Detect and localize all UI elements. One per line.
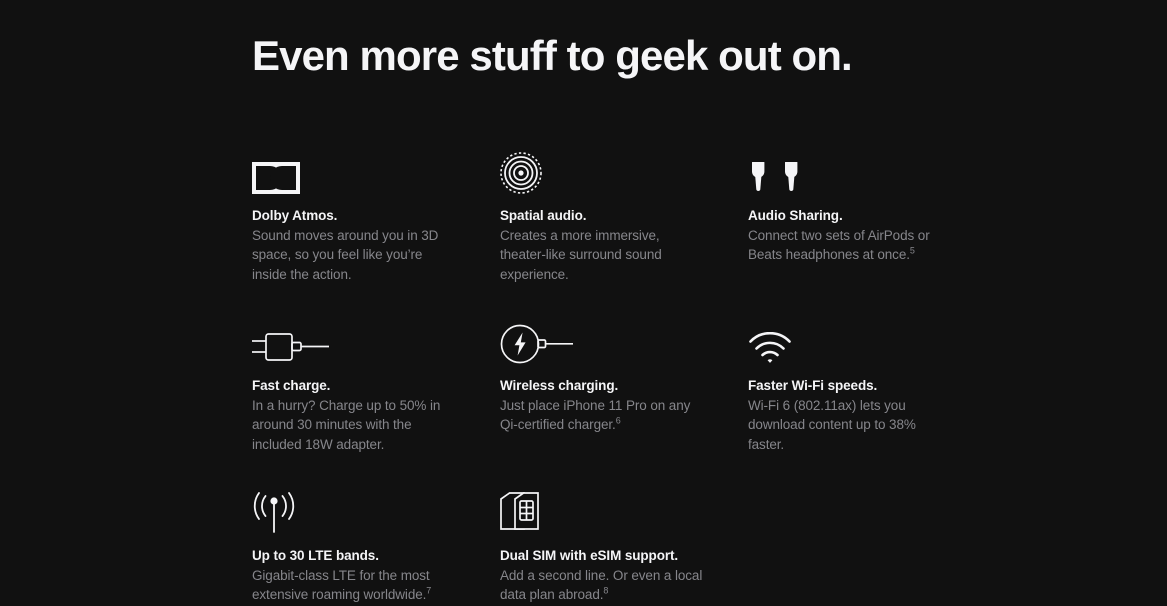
footnote-marker: 8	[603, 586, 608, 596]
feature-title: Wireless charging.	[500, 377, 748, 395]
feature-description-text: Gigabit-class LTE for the most extensive…	[252, 568, 430, 602]
airpods-pair-icon	[748, 150, 996, 194]
feature-description-text: Connect two sets of AirPods or Beats hea…	[748, 228, 930, 262]
feature-card-lte-bands: Up to 30 LTE bands. Gigabit-class LTE fo…	[252, 490, 500, 606]
feature-title: Dolby Atmos.	[252, 207, 500, 225]
feature-card-audio-sharing: Audio Sharing. Connect two sets of AirPo…	[748, 150, 996, 320]
feature-description: In a hurry? Charge up to 50% in around 3…	[252, 396, 457, 453]
feature-grid: Dolby Atmos. Sound moves around you in 3…	[252, 150, 952, 606]
feature-description: Creates a more immersive, theater-like s…	[500, 226, 705, 283]
page-title: Even more stuff to geek out on.	[252, 33, 852, 79]
feature-description: Add a second line. Or even a local data …	[500, 566, 705, 604]
feature-description-text: In a hurry? Charge up to 50% in around 3…	[252, 398, 440, 451]
spatial-audio-rings-icon	[500, 150, 748, 194]
feature-description-text: Add a second line. Or even a local data …	[500, 568, 702, 602]
feature-description: Connect two sets of AirPods or Beats hea…	[748, 226, 953, 264]
feature-highlights-page: Even more stuff to geek out on. Dolby At…	[0, 0, 1167, 606]
wireless-charging-bolt-icon	[500, 320, 748, 364]
feature-description: Wi-Fi 6 (802.11ax) lets you download con…	[748, 396, 953, 453]
footnote-marker: 6	[616, 416, 621, 426]
feature-title: Audio Sharing.	[748, 207, 996, 225]
feature-card-fast-charge: Fast charge. In a hurry? Charge up to 50…	[252, 320, 500, 490]
power-adapter-icon	[252, 320, 500, 364]
footnote-marker: 5	[910, 246, 915, 256]
feature-card-faster-wifi: Faster Wi-Fi speeds. Wi-Fi 6 (802.11ax) …	[748, 320, 996, 490]
feature-card-wireless-charging: Wireless charging. Just place iPhone 11 …	[500, 320, 748, 490]
feature-title: Spatial audio.	[500, 207, 748, 225]
feature-title: Dual SIM with eSIM support.	[500, 547, 748, 565]
feature-card-dolby-atmos: Dolby Atmos. Sound moves around you in 3…	[252, 150, 500, 320]
footnote-marker: 7	[426, 586, 431, 596]
lte-antenna-icon	[252, 490, 500, 534]
feature-title: Fast charge.	[252, 377, 500, 395]
dolby-atmos-logo-icon	[252, 150, 500, 194]
feature-title: Up to 30 LTE bands.	[252, 547, 500, 565]
wifi-icon	[748, 320, 996, 364]
feature-description: Just place iPhone 11 Pro on any Qi-certi…	[500, 396, 705, 434]
feature-description: Gigabit-class LTE for the most extensive…	[252, 566, 457, 604]
feature-description-text: Just place iPhone 11 Pro on any Qi-certi…	[500, 398, 690, 432]
feature-card-dual-sim: Dual SIM with eSIM support. Add a second…	[500, 490, 748, 606]
feature-description-text: Wi-Fi 6 (802.11ax) lets you download con…	[748, 398, 916, 451]
dual-sim-icon	[500, 490, 748, 534]
feature-description-text: Creates a more immersive, theater-like s…	[500, 228, 662, 281]
feature-card-spatial-audio: Spatial audio. Creates a more immersive,…	[500, 150, 748, 320]
feature-description-text: Sound moves around you in 3D space, so y…	[252, 228, 438, 281]
feature-title: Faster Wi-Fi speeds.	[748, 377, 996, 395]
feature-description: Sound moves around you in 3D space, so y…	[252, 226, 457, 283]
